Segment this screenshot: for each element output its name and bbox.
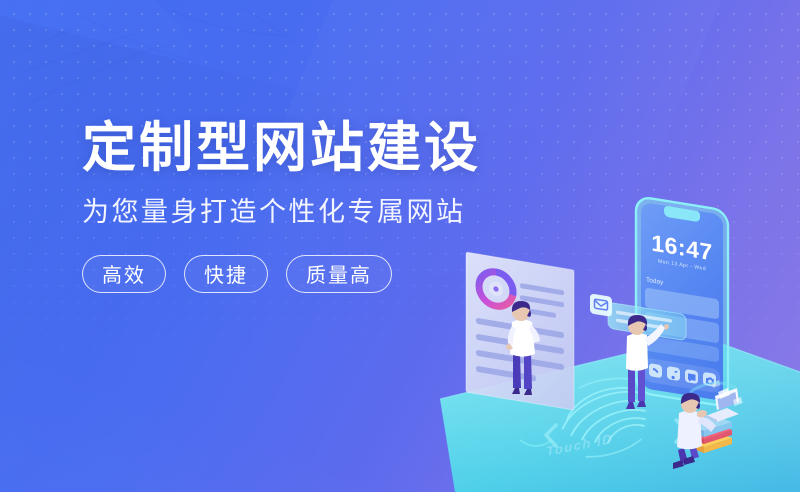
isometric-platform [440, 336, 800, 492]
bubble-text-lines [616, 310, 672, 330]
fingerprint-icon [563, 372, 645, 464]
person-at-phone [626, 315, 669, 409]
smartphone: 16:47 Mon 13 Apr - Wed Today [636, 196, 729, 407]
hero-banner: Touch ID [0, 0, 800, 492]
svg-text:Mon 13 Apr - Wed: Mon 13 Apr - Wed [658, 259, 706, 273]
svg-text:Today: Today [646, 277, 664, 287]
feature-tag-fast[interactable]: 快捷 [184, 255, 268, 293]
platform-next-arrow [676, 420, 687, 442]
feature-tag-row: 高效 快捷 质量高 [82, 255, 502, 293]
floor-accent-swoosh [520, 440, 552, 446]
banner-copy: 定制型网站建设 为您量身打造个性化专属网站 高效 快捷 质量高 [82, 118, 502, 293]
chat-bubble [590, 293, 686, 340]
envelope-icon [590, 293, 612, 316]
platform-prev-arrow [546, 425, 556, 446]
feature-tag-efficient[interactable]: 高效 [82, 255, 166, 293]
laptop-icon [705, 388, 739, 422]
flying-papers [712, 380, 743, 406]
person-at-document [506, 301, 540, 395]
page-title: 定制型网站建设 [82, 118, 502, 178]
touch-id-label: Touch ID [546, 431, 614, 459]
phone-app-dock [644, 357, 720, 393]
book-stack [684, 415, 732, 453]
phone-notification-cards [645, 287, 719, 362]
feature-tag-quality[interactable]: 质量高 [286, 255, 392, 293]
person-with-laptop [673, 380, 743, 469]
page-subtitle: 为您量身打造个性化专属网站 [82, 196, 502, 228]
ribbon-accent [690, 383, 736, 392]
svg-text:Touch ID: Touch ID [546, 431, 614, 459]
svg-text:16:47: 16:47 [651, 230, 712, 266]
